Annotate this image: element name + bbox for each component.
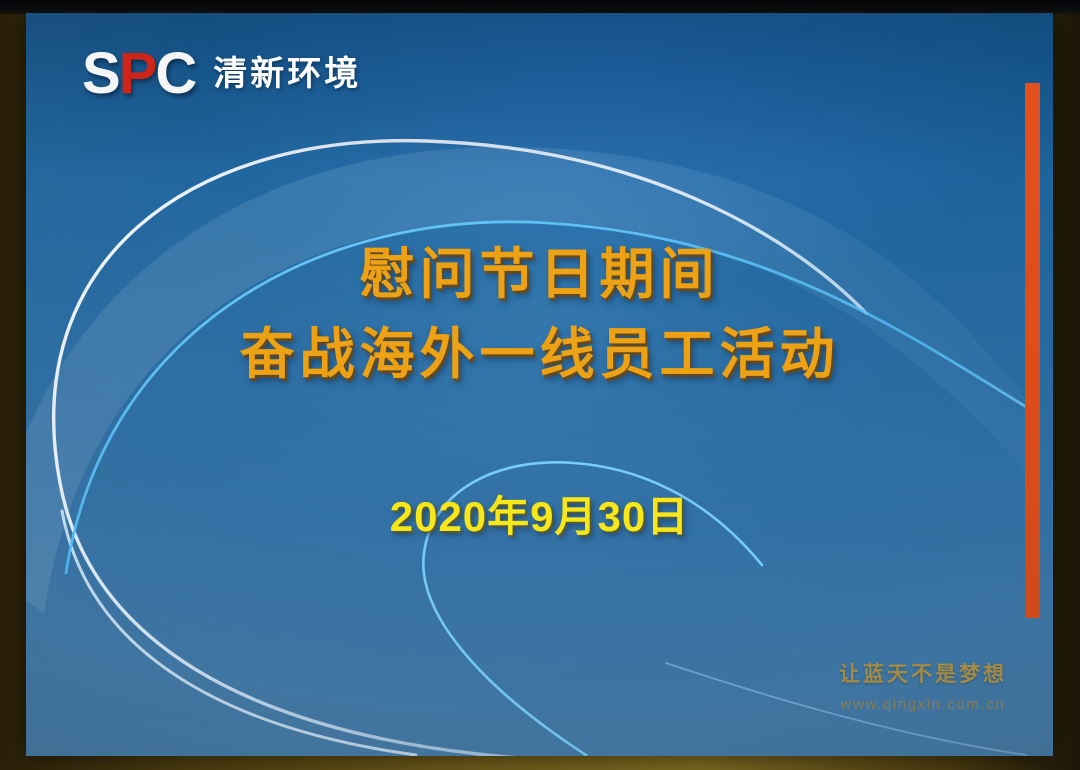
slide-footer: 让蓝天不是梦想 www.qingxin.com.cn: [839, 660, 1007, 716]
company-logo: SPC 清新环境: [82, 45, 361, 103]
logo-wordmark: SPC: [82, 45, 195, 103]
footer-tagline: 让蓝天不是梦想: [839, 660, 1007, 690]
logo-letter-p: P: [119, 41, 156, 106]
headline-line-2: 奋战海外一线员工活动: [26, 315, 1053, 395]
slide-headline: 慰问节日期间 奋战海外一线员工活动: [26, 235, 1053, 395]
presentation-slide: SPC 清新环境 慰问节日期间 奋战海外一线员工活动 2020年9月30日 让蓝…: [26, 13, 1053, 756]
slide-date: 2020年9月30日: [26, 483, 1053, 544]
photographed-slide-frame: SPC 清新环境 慰问节日期间 奋战海外一线员工活动 2020年9月30日 让蓝…: [0, 0, 1080, 770]
logo-company-name-cn: 清新环境: [213, 57, 361, 91]
footer-website-url: www.qingxin.com.cn: [839, 694, 1007, 716]
headline-line-1: 慰问节日期间: [26, 235, 1053, 315]
logo-letter-s: S: [82, 41, 119, 106]
ceiling-shadow-strip: [0, 0, 1080, 14]
logo-letter-c: C: [155, 41, 195, 106]
